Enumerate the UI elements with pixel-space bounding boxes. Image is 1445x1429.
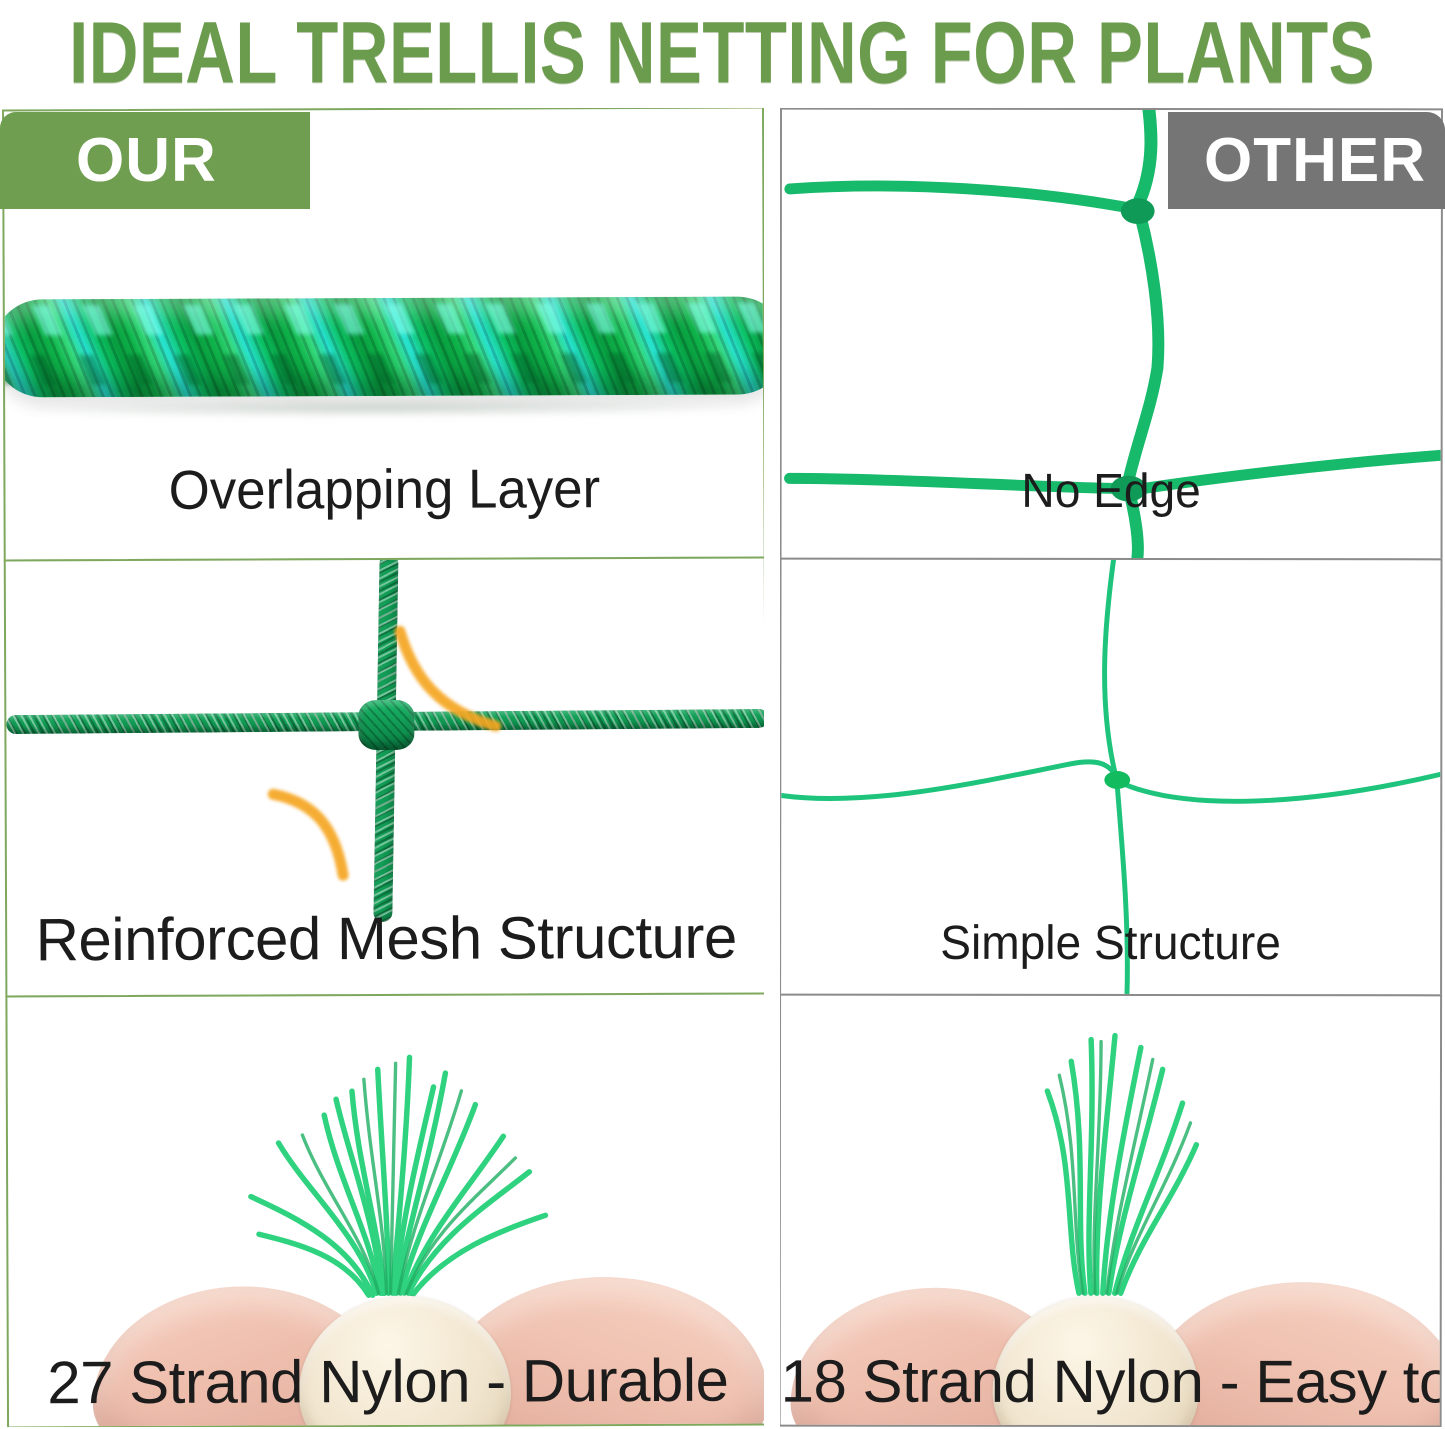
badge-other: OTHER	[1168, 112, 1445, 209]
badge-our-label: OUR	[76, 125, 217, 196]
cell-other-simple-structure: Simple Structure	[780, 558, 1443, 997]
caption-other-row3: 18 Strand Nylon - Easy to Break	[781, 1345, 1440, 1420]
cell-other-18-strand: 18 Strand Nylon - Easy to Break	[780, 994, 1442, 1427]
caption-other-row2: Simple Structure	[794, 912, 1427, 977]
cell-our-reinforced-mesh: Reinforced Mesh Structure	[4, 557, 764, 998]
column-other: No Edge Simple Structure	[780, 108, 1443, 1427]
badge-our: OUR	[0, 112, 310, 209]
caption-our-row3: 27 Strand Nylon - Durable	[9, 1344, 764, 1421]
page-title-bar: IDEAL TRELLIS NETTING FOR PLANTS	[0, 0, 1445, 105]
badge-other-label: OTHER	[1204, 125, 1426, 196]
comparison-grid: Overlapping Layer	[0, 108, 1445, 1429]
caption-other-row1: No Edge	[795, 460, 1428, 525]
column-our: Overlapping Layer	[2, 108, 764, 1427]
caption-our-row2: Reinforced Mesh Structure	[7, 901, 764, 978]
caption-our-row1: Overlapping Layer	[20, 453, 748, 526]
page-title: IDEAL TRELLIS NETTING FOR PLANTS	[70, 9, 1376, 96]
cell-our-27-strand: 27 Strand Nylon - Durable	[5, 993, 764, 1427]
